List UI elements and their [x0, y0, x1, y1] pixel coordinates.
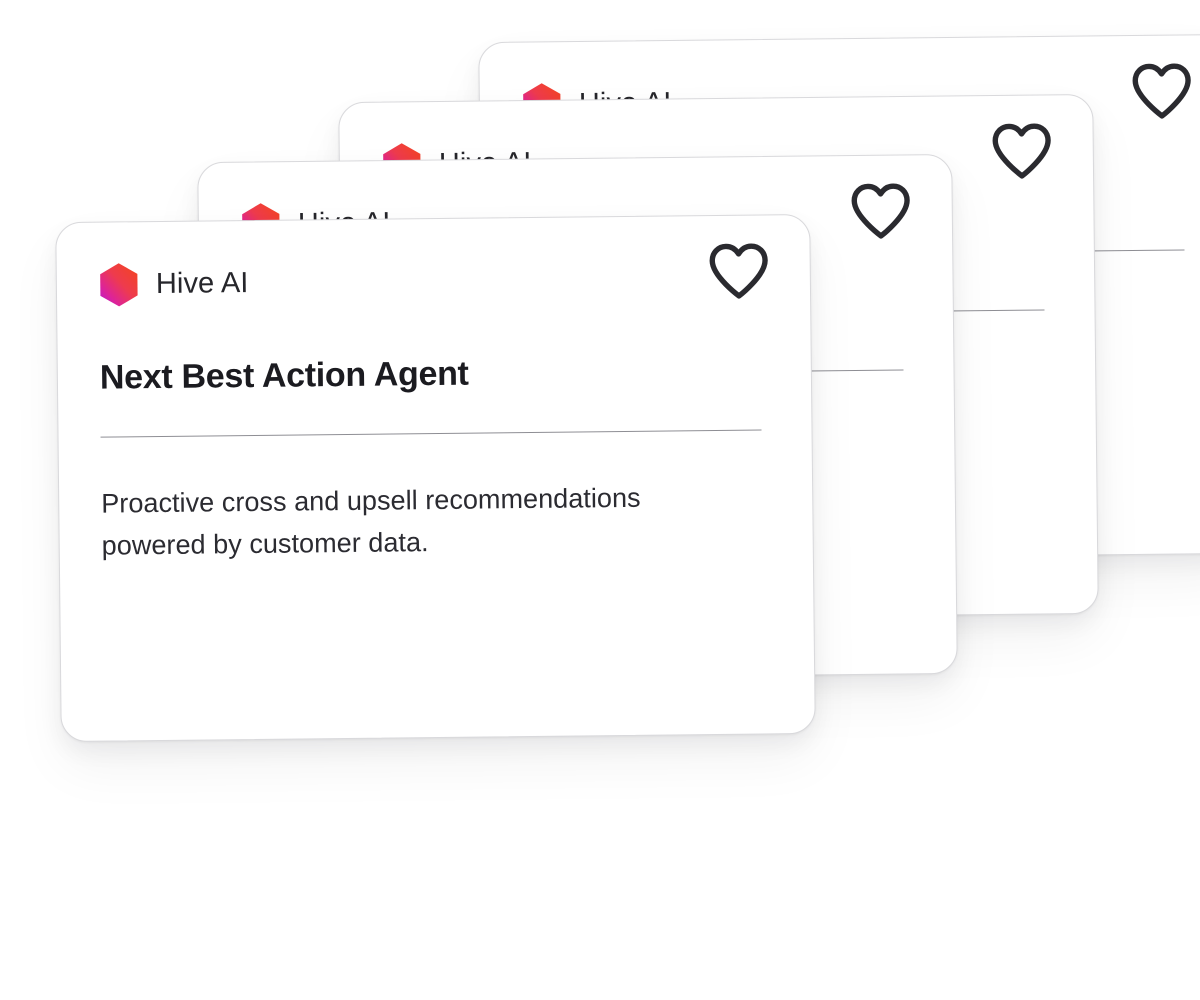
agent-card-content: Hive AI Next Best Action Agent Proactive…: [56, 215, 815, 741]
heart-outline-icon[interactable]: [849, 182, 912, 241]
card-stack-stage: Hive AI Next Best Action Agent Proactive…: [0, 0, 1200, 1000]
card-title: Next Best Action Agent: [100, 351, 769, 396]
heart-outline-icon[interactable]: [1130, 62, 1193, 121]
agent-card-front[interactable]: Hive AI Next Best Action Agent Proactive…: [55, 214, 816, 742]
brand-row: Hive AI: [99, 255, 768, 306]
card-divider: [101, 430, 762, 438]
card-body-text: Proactive cross and upsell recommendatio…: [101, 478, 672, 568]
heart-outline-icon[interactable]: [990, 122, 1053, 181]
brand-name: Hive AI: [156, 269, 249, 299]
hive-hexagon-logo-icon: [99, 262, 139, 307]
heart-outline-icon[interactable]: [707, 242, 770, 301]
